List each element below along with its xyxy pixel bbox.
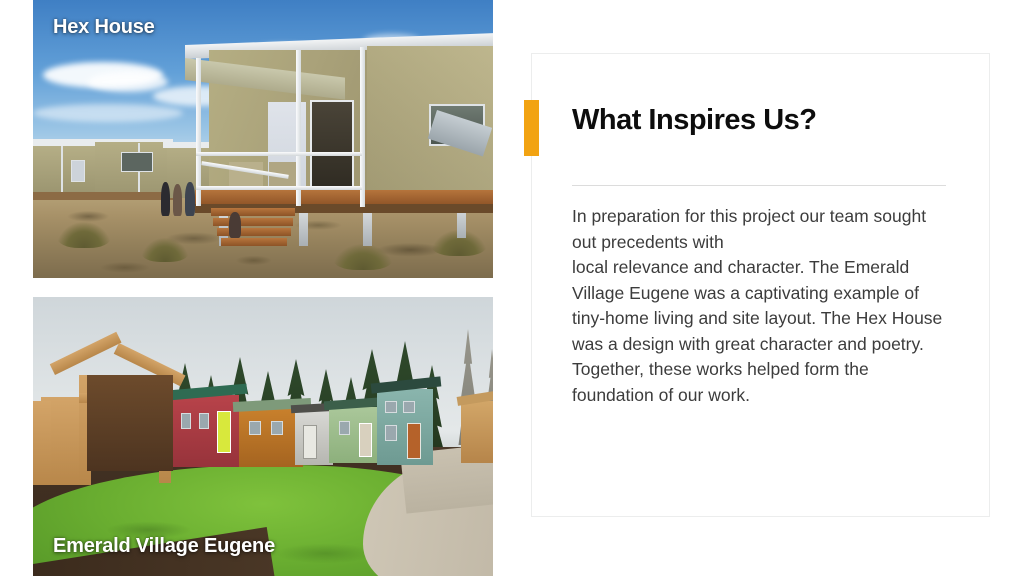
shrub <box>141 238 189 262</box>
deck-support-pier <box>299 210 308 246</box>
deck-stair-tread <box>211 208 295 216</box>
inspiration-card: What Inspires Us? In preparation for thi… <box>531 53 990 517</box>
tiny-home-green <box>329 407 383 463</box>
tiny-home-red <box>173 395 239 467</box>
background-window <box>71 160 85 182</box>
home-door <box>217 411 231 453</box>
house-open-doorway <box>310 100 354 192</box>
porch-frame-post <box>196 58 201 206</box>
cloud-shape <box>88 72 168 92</box>
home-window <box>339 421 350 435</box>
person-figure <box>185 182 195 216</box>
person-figure <box>161 182 170 216</box>
pavilion-side-wall <box>33 401 51 485</box>
home-window <box>181 413 191 429</box>
deck-stair-tread <box>213 218 293 226</box>
porch-frame-post <box>360 47 365 207</box>
background-window <box>121 152 153 172</box>
porch-frame-post <box>296 50 301 206</box>
card-divider <box>572 185 946 186</box>
home-window <box>249 421 261 435</box>
pavilion-interior <box>87 375 173 471</box>
deck-stair-tread <box>221 238 287 246</box>
presentation-slide: Hex House <box>0 0 1024 576</box>
hex-house-illustration <box>33 0 493 278</box>
media-column: Hex House <box>33 0 493 576</box>
photo-hex-house[interactable]: Hex House <box>33 0 493 278</box>
deck-support-pier <box>363 210 372 246</box>
card-body-text: In preparation for this project our team… <box>572 204 950 408</box>
shrub <box>333 244 393 270</box>
card-heading: What Inspires Us? <box>572 104 817 137</box>
home-window <box>385 425 397 441</box>
background-house-post <box>61 146 63 196</box>
person-figure <box>173 184 182 216</box>
person-figure-seated <box>229 212 241 238</box>
home-door <box>303 425 317 459</box>
tiny-home-teal <box>377 389 433 465</box>
cloud-shape <box>33 104 183 122</box>
background-house-deck <box>33 192 175 200</box>
home-window <box>271 421 283 435</box>
shrub <box>57 222 111 248</box>
tiny-home-orange <box>239 409 303 467</box>
home-window <box>385 401 397 413</box>
home-siding <box>329 407 383 463</box>
home-door <box>359 423 372 457</box>
porch-guard-rail <box>196 152 362 156</box>
home-window <box>403 401 415 413</box>
home-window <box>199 413 209 429</box>
home-siding <box>239 409 303 467</box>
pavilion-gable-rafter <box>50 332 122 375</box>
photo-caption-emerald-village-eugene: Emerald Village Eugene <box>53 535 275 558</box>
photo-caption-hex-house: Hex House <box>53 16 155 39</box>
home-door <box>407 423 421 459</box>
tiny-home-under-construction <box>461 401 493 463</box>
background-house <box>33 146 95 194</box>
tiny-home-white <box>295 411 333 465</box>
home-framing <box>461 401 493 463</box>
porch-guard-rail <box>196 186 362 190</box>
photo-emerald-village-eugene[interactable]: Emerald Village Eugene <box>33 297 493 576</box>
accent-bar <box>524 100 539 156</box>
